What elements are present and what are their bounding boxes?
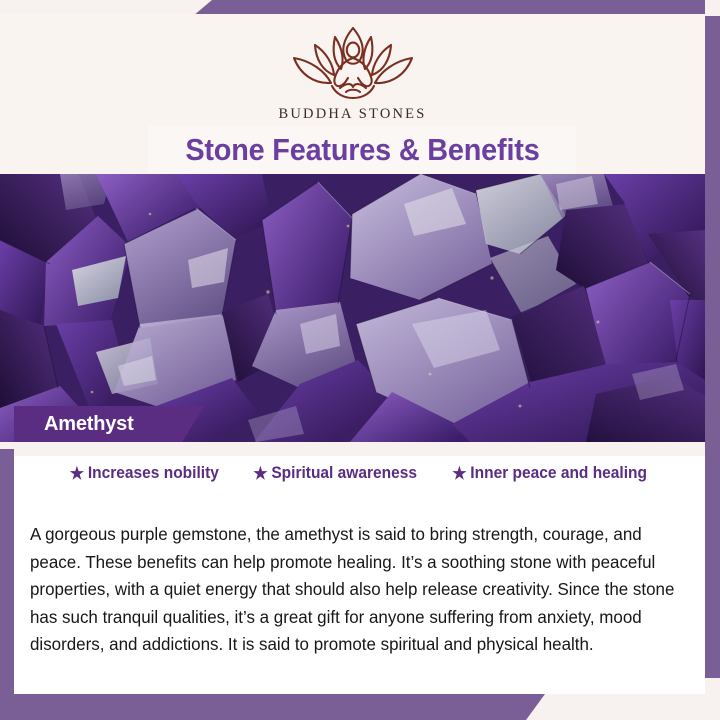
benefit-item: ★ Spiritual awareness (253, 464, 417, 483)
page-title: Stone Features & Benefits (185, 132, 539, 168)
benefit-item: ★ Increases nobility (70, 464, 219, 483)
stone-description: A gorgeous purple gemstone, the amethyst… (30, 521, 674, 659)
bottom-purple-band (14, 694, 545, 720)
benefit-label: Increases nobility (88, 464, 219, 483)
stone-name: Amethyst (44, 413, 134, 436)
star-icon: ★ (253, 465, 267, 482)
card-top-strip (14, 442, 705, 456)
benefit-label: Inner peace and healing (471, 464, 648, 483)
right-purple-rail (705, 16, 720, 678)
brand-name: BUDDHA STONES (279, 106, 427, 123)
benefits-row: ★ Increases nobility ★ Spiritual awarene… (14, 464, 705, 483)
amethyst-photo (0, 174, 705, 442)
left-purple-rail (0, 449, 14, 720)
star-icon: ★ (453, 465, 467, 482)
star-icon: ★ (70, 465, 84, 482)
page-title-plate: Stone Features & Benefits (148, 126, 576, 174)
benefit-label: Spiritual awareness (271, 464, 417, 483)
infographic-page: BUDDHA STONES Stone Features & Benefits (0, 0, 720, 720)
stone-name-tag: Amethyst (14, 406, 204, 442)
brand-logo: BUDDHA STONES (278, 24, 428, 123)
benefit-item: ★ Inner peace and healing (453, 464, 648, 483)
lotus-meditation-icon (278, 24, 428, 102)
description-card: ★ Increases nobility ★ Spiritual awarene… (14, 442, 705, 694)
amethyst-crystal-cluster-graphic (0, 174, 705, 442)
